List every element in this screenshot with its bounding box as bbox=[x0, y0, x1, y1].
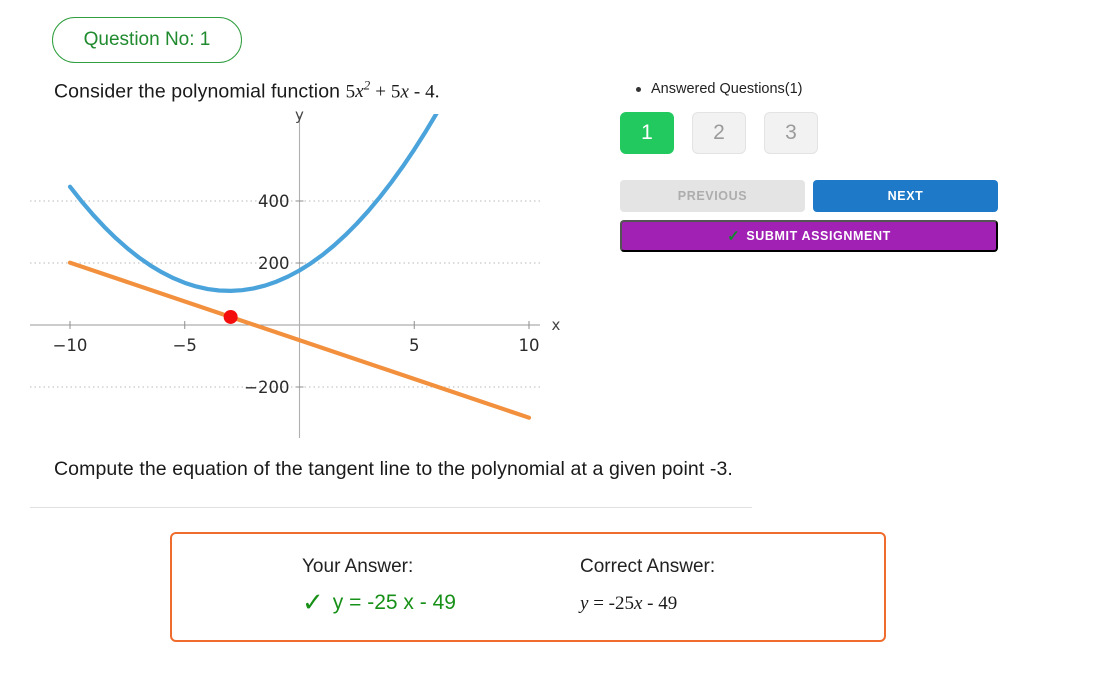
y-axis-tick-label: −200 bbox=[244, 378, 289, 397]
your-answer-value-row: ✓ y = -25 x - 49 bbox=[302, 590, 456, 616]
tangent-line-chart: −10−5510400200−200xy bbox=[0, 108, 600, 453]
answer-comparison-box: Your Answer: ✓ y = -25 x - 49 Correct An… bbox=[170, 532, 886, 642]
x-axis-tick-label: 10 bbox=[519, 336, 540, 355]
question-number-button-label: 1 bbox=[641, 121, 653, 145]
question-number-button-label: 3 bbox=[785, 121, 797, 145]
marker-tangent-point bbox=[224, 310, 238, 324]
chart-svg: −10−5510400200−200xy bbox=[0, 108, 600, 453]
question-number-button-2[interactable]: 2 bbox=[692, 112, 746, 154]
bullet-icon bbox=[636, 87, 641, 92]
nav-button-row: PREVIOUS NEXT bbox=[620, 180, 1000, 212]
correct-answer-tail: - 49 bbox=[642, 593, 677, 614]
y-axis-tick-label: 200 bbox=[258, 254, 290, 273]
y-axis-tick-label: 400 bbox=[258, 192, 290, 211]
correct-answer-label: Correct Answer: bbox=[580, 556, 715, 578]
x-axis-tick-label: 5 bbox=[409, 336, 420, 355]
answered-questions-label: Answered Questions(1) bbox=[651, 81, 803, 97]
your-answer-label: Your Answer: bbox=[302, 556, 456, 578]
question-prompt-bottom: Compute the equation of the tangent line… bbox=[54, 458, 733, 481]
prompt-coef-1: 5 bbox=[346, 81, 356, 102]
previous-button[interactable]: PREVIOUS bbox=[620, 180, 805, 212]
x-axis-label: x bbox=[552, 316, 561, 334]
submit-assignment-label: SUBMIT ASSIGNMENT bbox=[746, 229, 890, 243]
prompt-plus: + bbox=[370, 81, 391, 102]
x-axis-tick-label: −5 bbox=[173, 336, 197, 355]
correct-answer-column: Correct Answer: y = -25x - 49 bbox=[580, 556, 715, 615]
prompt-var-1: x2 bbox=[355, 81, 370, 102]
check-icon: ✓ bbox=[727, 229, 740, 244]
your-answer-value: y = -25 x - 49 bbox=[333, 591, 456, 615]
your-answer-column: Your Answer: ✓ y = -25 x - 49 bbox=[302, 556, 456, 616]
question-nav-panel: Answered Questions(1) 123 PREVIOUS NEXT … bbox=[620, 78, 1000, 252]
question-number-badge: Question No: 1 bbox=[52, 17, 242, 63]
correct-answer-rest: = -25 bbox=[588, 593, 634, 614]
next-button[interactable]: NEXT bbox=[813, 180, 998, 212]
prompt-var-2: x bbox=[400, 81, 409, 102]
x-axis-tick-label: −10 bbox=[53, 336, 88, 355]
question-number-button-3[interactable]: 3 bbox=[764, 112, 818, 154]
submit-assignment-button[interactable]: ✓ SUBMIT ASSIGNMENT bbox=[620, 220, 998, 252]
y-axis-label: y bbox=[295, 108, 304, 124]
prompt-lead-text: Consider the polynomial function bbox=[54, 80, 346, 102]
question-prompt-top: Consider the polynomial function 5x2 + 5… bbox=[54, 78, 440, 103]
question-number-button-1[interactable]: 1 bbox=[620, 112, 674, 154]
prompt-tail: - 4. bbox=[409, 81, 440, 102]
question-number-badge-label: Question No: 1 bbox=[84, 29, 211, 51]
question-number-button-label: 2 bbox=[713, 121, 725, 145]
correct-answer-value: y = -25x - 49 bbox=[580, 593, 715, 615]
answered-questions-row: Answered Questions(1) bbox=[636, 78, 1000, 100]
checkmark-icon: ✓ bbox=[302, 590, 324, 616]
question-number-list: 123 bbox=[620, 112, 1000, 154]
section-divider bbox=[30, 507, 752, 508]
